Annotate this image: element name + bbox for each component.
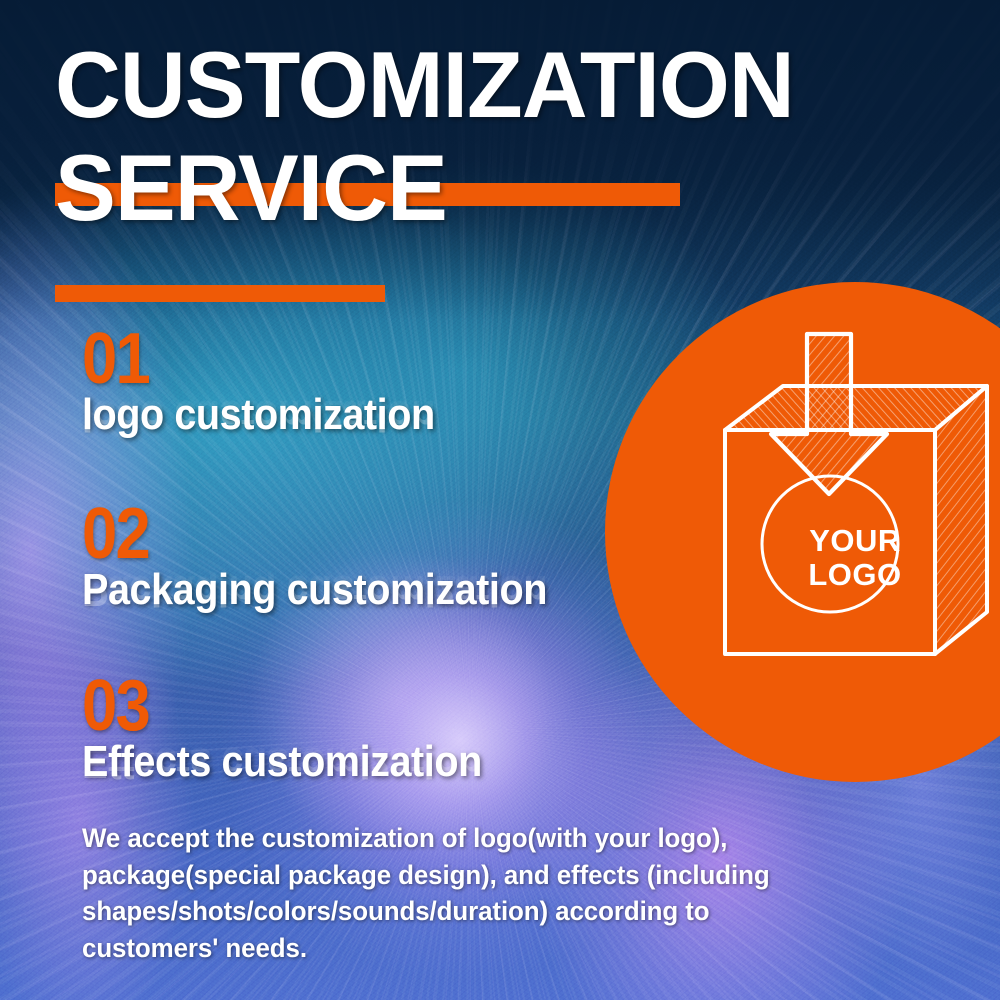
your-logo-line-2: LOGO [605, 558, 1000, 593]
item-label-wrap-01: logo customization logo customization [82, 393, 474, 437]
item-label-02: Packaging customization [82, 568, 547, 612]
title-underline-bar-2 [55, 285, 385, 302]
promo-poster: CUSTOMIZATION SERVICE 01 logo customizat… [0, 0, 1000, 1000]
item-number-02: 02 [82, 503, 537, 566]
your-logo-line-1: YOUR [605, 524, 1000, 559]
package-box-icon [725, 386, 987, 654]
item-label-03: Effects customization [82, 740, 482, 784]
service-item-03: 03 Effects customization Effects customi… [82, 675, 526, 784]
item-number-01: 01 [82, 328, 427, 391]
orange-circle-badge: YOUR LOGO [605, 282, 1000, 782]
item-label-01: logo customization [82, 393, 435, 437]
service-item-01: 01 logo customization logo customization [82, 328, 474, 437]
title-line-customization: CUSTOMIZATION [55, 46, 792, 123]
item-number-03: 03 [82, 675, 473, 738]
item-label-wrap-02: Packaging customization Packaging custom… [82, 568, 599, 612]
item-label-wrap-03: Effects customization Effects customizat… [82, 740, 526, 784]
poster-title-block: CUSTOMIZATION SERVICE [55, 46, 815, 226]
body-paragraph: We accept the customization of logo(with… [82, 820, 821, 967]
service-item-02: 02 Packaging customization Packaging cus… [82, 503, 599, 612]
title-line-service: SERVICE [55, 149, 792, 226]
